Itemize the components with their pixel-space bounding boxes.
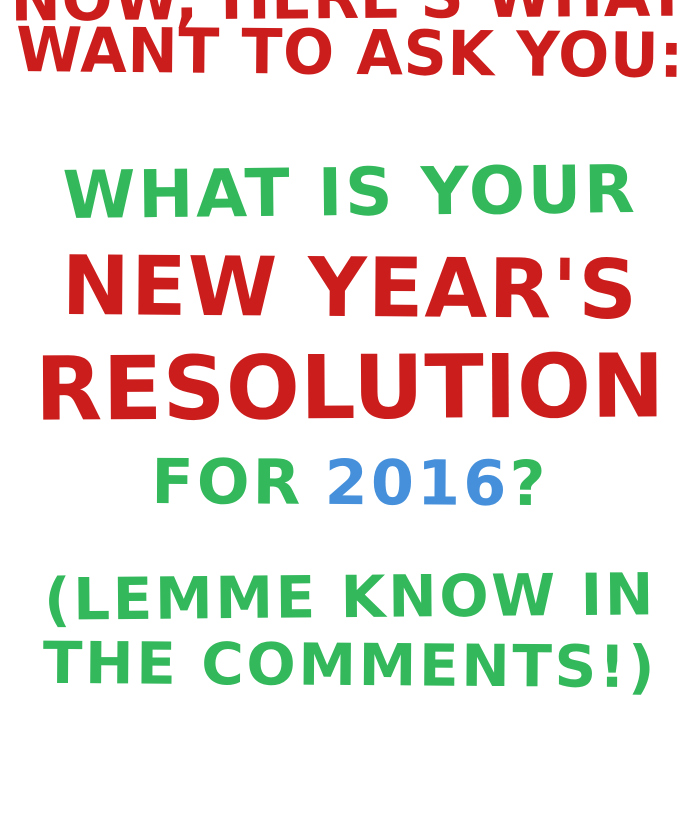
question-year-number: 2016: [324, 446, 509, 520]
question-line-what-is-your: WHAT IS YOUR: [0, 156, 700, 229]
question-for-word: FOR: [151, 445, 303, 519]
intro-line-2: WANT TO ASK YOU:: [10, 19, 689, 87]
question-line-resolution: RESOLUTION: [3, 342, 696, 434]
aside-line-2: THE COMMENTS!): [0, 634, 700, 697]
comic-panel: NOW, HERE'S WHAT I WANT TO ASK YOU: WHAT…: [0, 0, 700, 831]
question-mark: ?: [509, 447, 548, 520]
aside-line-1: (LEMME KNOW IN: [0, 565, 700, 629]
question-line-new-years: NEW YEAR'S: [3, 246, 697, 333]
question-line-for-year: FOR2016?: [0, 450, 700, 516]
